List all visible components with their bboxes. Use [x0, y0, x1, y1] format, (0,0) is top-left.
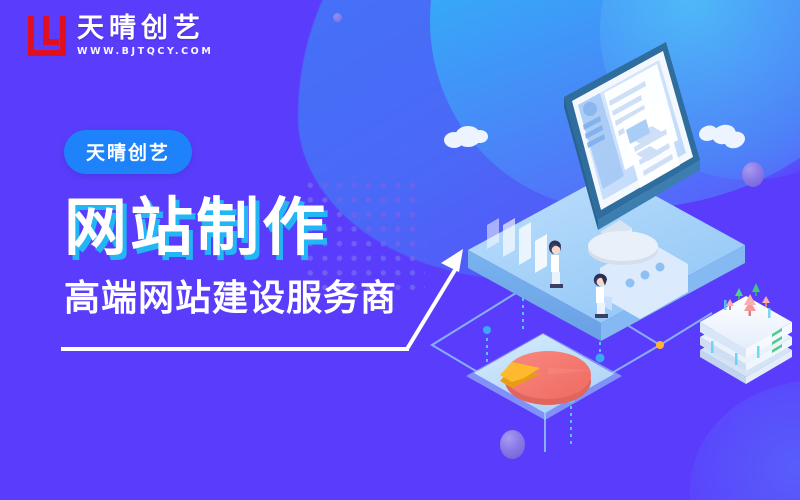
server-stack — [700, 283, 792, 384]
headline-text: 网站制作 — [64, 196, 464, 259]
brand-badge: 天晴创艺 — [64, 130, 192, 174]
tqcy-bracket-mark-icon — [28, 16, 66, 56]
logo-website-url: WWW.BJTQCY.COM — [77, 46, 213, 57]
copy-block: 天晴创艺 网站制作 高端网站建设服务商 — [64, 130, 464, 318]
subheadline-text: 高端网站建设服务商 — [64, 280, 464, 318]
brand-logo[interactable]: 天晴创艺 WWW.BJTQCY.COM — [28, 14, 213, 57]
pie-chart-tile — [466, 333, 622, 420]
promo-banner: 天晴创艺 WWW.BJTQCY.COM 天晴创艺 网站制作 高端网站建设服务商 — [0, 0, 800, 500]
logo-brand-name: 天晴创艺 — [77, 14, 213, 43]
logo-text-group: 天晴创艺 WWW.BJTQCY.COM — [77, 14, 213, 57]
